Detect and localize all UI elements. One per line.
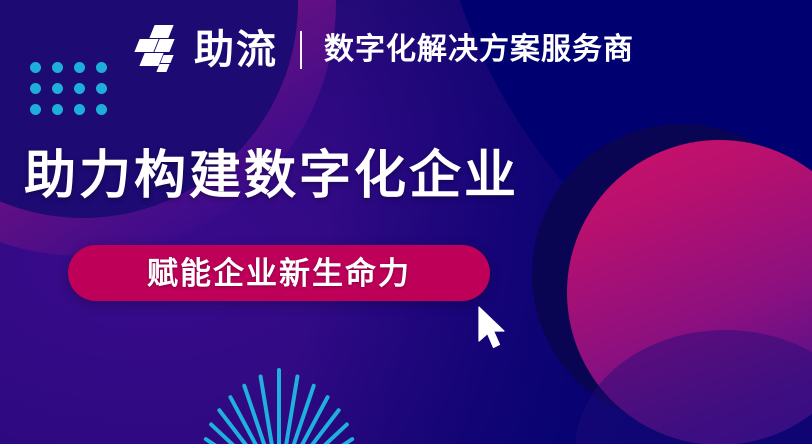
cta-pill-label: 赋能企业新生命力 [147, 258, 411, 289]
grid-dot [74, 62, 85, 73]
promo-banner: 助流 数字化解决方案服务商 助力构建数字化企业 赋能企业新生命力 [0, 0, 812, 444]
banner-header: 助流 数字化解决方案服务商 [132, 22, 634, 78]
cyan-diagonal-fan [112, 352, 442, 444]
grid-dot [30, 62, 41, 73]
grid-dot [52, 83, 63, 94]
grid-dot [74, 104, 85, 115]
grid-dot [52, 62, 63, 73]
cyan-dot-grid [30, 62, 118, 125]
grid-dot [30, 83, 41, 94]
grid-dot [96, 104, 107, 115]
brand-tagline: 数字化解决方案服务商 [324, 35, 634, 65]
cta-pill-button[interactable]: 赋能企业新生命力 [68, 245, 490, 301]
grid-dot [52, 104, 63, 115]
fan-line [277, 368, 281, 444]
page-title: 助力构建数字化企业 [24, 148, 519, 205]
grid-dot [30, 104, 41, 115]
lightning-bolt-logo-icon [132, 25, 178, 75]
grid-dot [96, 62, 107, 73]
brand-name: 助流 [194, 30, 278, 70]
mouse-cursor-arrow [477, 306, 511, 354]
grid-dot [74, 83, 85, 94]
header-divider [300, 31, 302, 69]
grid-dot [96, 83, 107, 94]
